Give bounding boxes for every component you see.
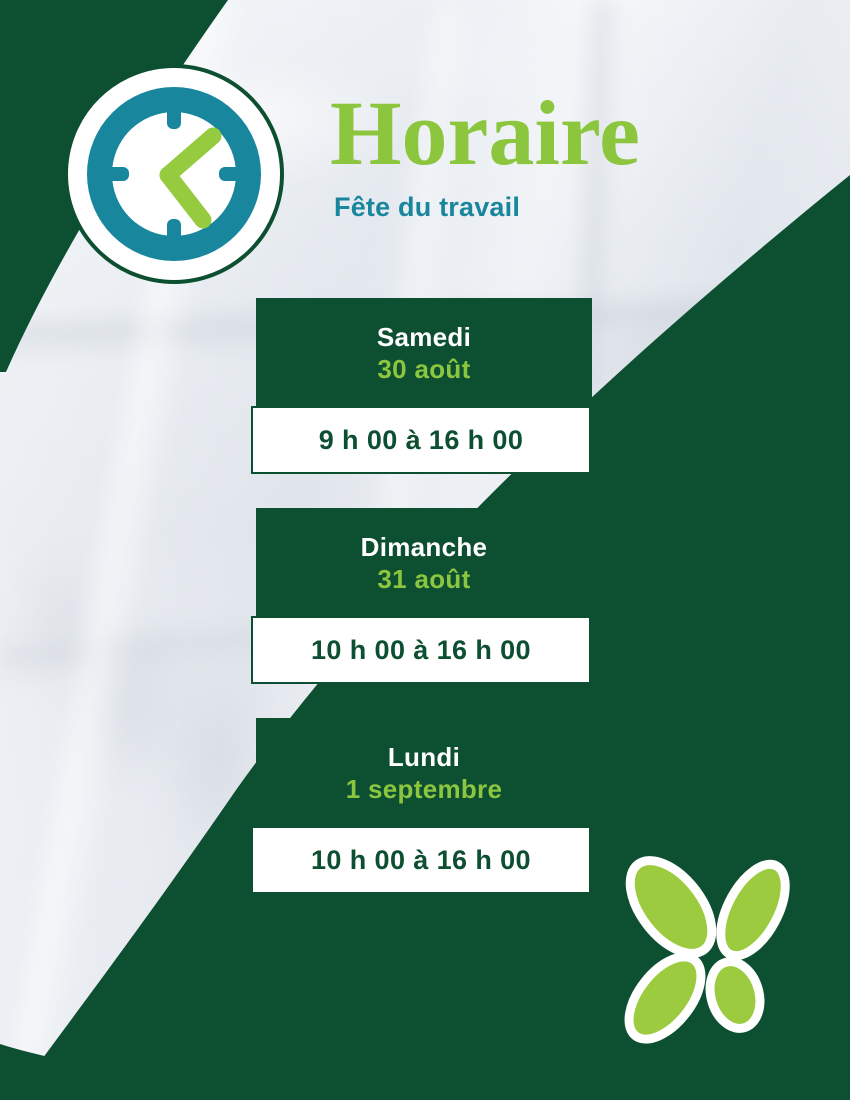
schedule-card: Dimanche 31 août 10 h 00 à 16 h 00 <box>0 508 850 696</box>
schedule-card-header: Lundi 1 septembre <box>256 718 592 830</box>
schedule-hours-band: 10 h 00 à 16 h 00 <box>251 826 591 894</box>
schedule-date: 1 septembre <box>346 774 502 806</box>
schedule-hours: 10 h 00 à 16 h 00 <box>311 635 531 666</box>
schedule-hours-band: 9 h 00 à 16 h 00 <box>251 406 591 474</box>
schedule-card: Samedi 30 août 9 h 00 à 16 h 00 <box>0 298 850 486</box>
schedule-hours: 10 h 00 à 16 h 00 <box>311 845 531 876</box>
schedule-date: 30 août <box>377 354 470 386</box>
schedule-hours: 9 h 00 à 16 h 00 <box>319 425 524 456</box>
schedule-hours-band: 10 h 00 à 16 h 00 <box>251 616 591 684</box>
page-title: Horaire <box>330 88 790 178</box>
butterfly-logo-icon <box>613 855 818 1055</box>
schedule-card-header: Samedi 30 août <box>256 298 592 410</box>
schedule-day: Dimanche <box>361 532 488 563</box>
schedule-poster: Horaire Fête du travail Samedi 30 août 9… <box>0 0 850 1100</box>
poster-heading: Horaire Fête du travail <box>330 88 790 223</box>
page-subtitle: Fête du travail <box>334 192 790 223</box>
schedule-list: Samedi 30 août 9 h 00 à 16 h 00 Dimanche… <box>0 298 850 928</box>
schedule-day: Samedi <box>377 322 471 353</box>
clock-icon <box>63 63 285 285</box>
schedule-card-header: Dimanche 31 août <box>256 508 592 620</box>
schedule-day: Lundi <box>388 742 460 773</box>
schedule-date: 31 août <box>377 564 470 596</box>
